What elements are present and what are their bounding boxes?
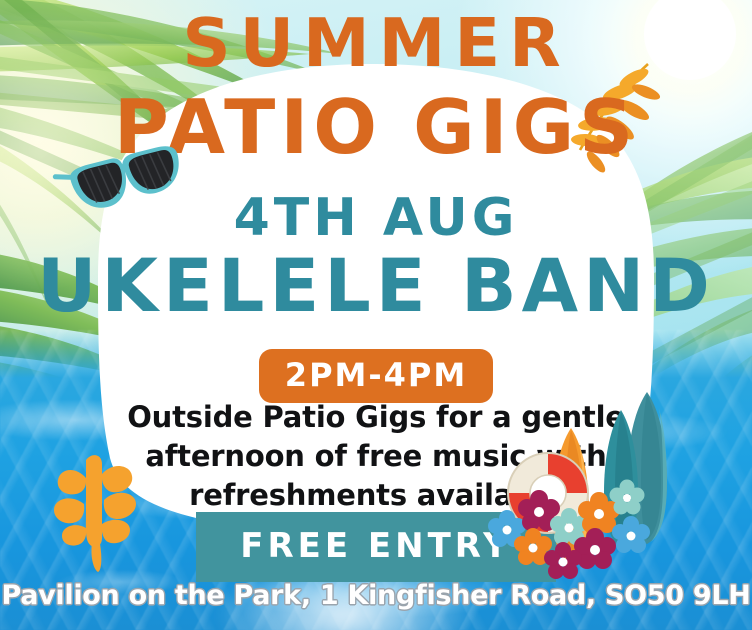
event-time-badge: 2PM-4PM: [259, 349, 493, 403]
venue-address: Pavilion on the Park, 1 Kingfisher Road,…: [0, 580, 752, 611]
event-act: UKELELE BAND: [0, 245, 752, 329]
event-description: Outside Patio Gigs for a gentle afternoo…: [0, 398, 752, 515]
event-time-row: 2PM-4PM: [0, 349, 752, 403]
poster-title-line2: PATIO GIGS: [0, 84, 752, 170]
poster-title-line1: SUMMER: [0, 4, 752, 82]
free-entry-banner: FREE ENTRY: [196, 512, 556, 582]
entry-banner-row: FREE ENTRY: [0, 512, 752, 582]
event-date: 4TH AUG: [0, 188, 752, 248]
poster-canvas: SUMMER PATIO GIGS 4TH AUG UKELELE BAND 2…: [0, 0, 752, 630]
poster-content: SUMMER PATIO GIGS 4TH AUG UKELELE BAND 2…: [0, 0, 752, 630]
